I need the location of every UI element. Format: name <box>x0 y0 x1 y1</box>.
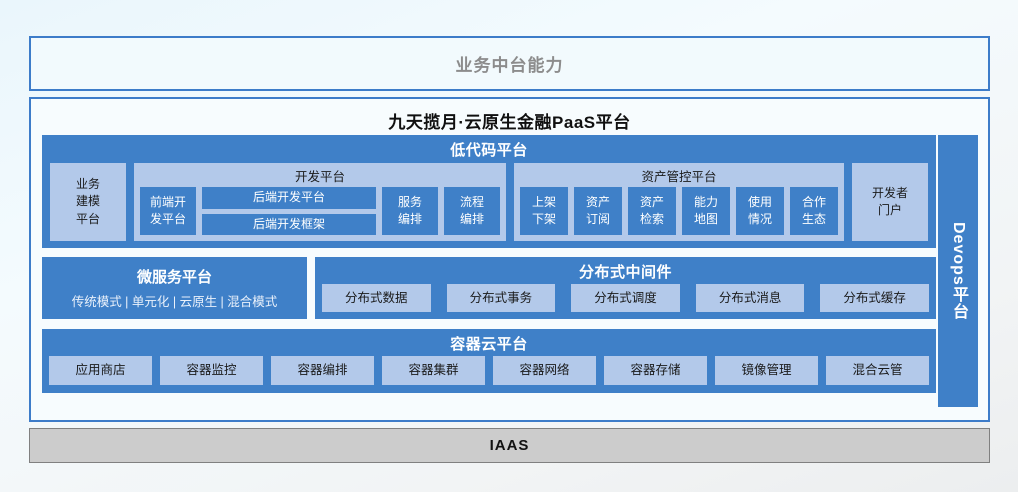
developer-portal-line-2: 门户 <box>878 202 902 219</box>
container-item-hybrid-cloud[interactable]: 混合云管 <box>826 356 929 385</box>
middleware-item-cache[interactable]: 分布式缓存 <box>820 284 929 312</box>
middleware-item-message[interactable]: 分布式消息 <box>696 284 805 312</box>
asset-item-search-line-2: 检索 <box>640 211 664 228</box>
asset-item-search-line-1: 资产 <box>640 194 664 211</box>
container-item-cluster[interactable]: 容器集群 <box>382 356 485 385</box>
container-item-network[interactable]: 容器网络 <box>493 356 596 385</box>
asset-item-ecosystem[interactable]: 合作 生态 <box>790 187 838 235</box>
process-orchestration-tile[interactable]: 流程 编排 <box>444 187 500 235</box>
development-platform-title: 开发平台 <box>134 163 506 187</box>
microservice-platform-panel: 微服务平台 传统模式 | 单元化 | 云原生 | 混合模式 <box>42 257 307 319</box>
frontend-dev-line-1: 前端开 <box>150 194 186 211</box>
business-middle-platform-banner: 业务中台能力 <box>29 36 990 91</box>
frontend-dev-line-2: 发平台 <box>150 211 186 228</box>
asset-item-subscribe-line-1: 资产 <box>586 194 610 211</box>
distributed-middleware-title: 分布式中间件 <box>315 257 936 282</box>
container-cloud-platform-panel: 容器云平台 应用商店 容器监控 容器编排 容器集群 容器网络 容器存储 镜像管理… <box>42 329 936 393</box>
middleware-item-data[interactable]: 分布式数据 <box>322 284 431 312</box>
container-item-image-management[interactable]: 镜像管理 <box>715 356 818 385</box>
paas-platform-frame: 九天揽月·云原生金融PaaS平台 Devops平台 低代码平台 业务 建模 平台… <box>29 97 990 422</box>
process-orch-line-1: 流程 <box>460 194 484 211</box>
distributed-middleware-panel: 分布式中间件 分布式数据 分布式事务 分布式调度 分布式消息 分布式缓存 <box>315 257 936 319</box>
asset-item-usage-line-1: 使用 <box>748 194 772 211</box>
developer-portal-line-1: 开发者 <box>872 185 908 202</box>
asset-item-subscribe[interactable]: 资产 订阅 <box>574 187 622 235</box>
architecture-diagram: 业务中台能力 九天揽月·云原生金融PaaS平台 Devops平台 低代码平台 业… <box>0 0 1018 492</box>
container-cloud-platform-title: 容器云平台 <box>42 329 936 354</box>
business-modeling-line-1: 业务 <box>76 176 100 193</box>
container-item-orchestration[interactable]: 容器编排 <box>271 356 374 385</box>
devops-platform-label: Devops平台 <box>946 222 970 320</box>
container-item-monitoring[interactable]: 容器监控 <box>160 356 263 385</box>
development-platform-group: 开发平台 前端开 发平台 后端开发平台 后端开发框架 服务 编排 <box>134 163 506 241</box>
middleware-item-scheduling[interactable]: 分布式调度 <box>571 284 680 312</box>
container-item-storage[interactable]: 容器存储 <box>604 356 707 385</box>
asset-item-search[interactable]: 资产 检索 <box>628 187 676 235</box>
business-modeling-line-3: 平台 <box>76 211 100 228</box>
iaas-label: IAAS <box>490 437 530 454</box>
paas-title: 九天揽月·云原生金融PaaS平台 <box>31 99 988 133</box>
service-orch-line-1: 服务 <box>398 194 422 211</box>
asset-item-shelf-line-2: 下架 <box>532 211 556 228</box>
asset-item-capability-map[interactable]: 能力 地图 <box>682 187 730 235</box>
microservice-platform-title: 微服务平台 <box>137 266 212 287</box>
asset-item-shelf[interactable]: 上架 下架 <box>520 187 568 235</box>
asset-management-platform-group: 资产管控平台 上架 下架 资产 订阅 资产 检索 <box>514 163 844 241</box>
asset-item-usage[interactable]: 使用 情况 <box>736 187 784 235</box>
microservice-platform-modes: 传统模式 | 单元化 | 云原生 | 混合模式 <box>72 291 278 310</box>
backend-dev-stack: 后端开发平台 后端开发框架 <box>202 187 376 235</box>
devops-platform-bar: Devops平台 <box>938 135 978 407</box>
frontend-dev-platform-tile[interactable]: 前端开 发平台 <box>140 187 196 235</box>
business-modeling-line-2: 建模 <box>76 193 100 210</box>
asset-item-capability-map-line-2: 地图 <box>694 211 718 228</box>
banner-title: 业务中台能力 <box>456 51 564 76</box>
middleware-item-transaction[interactable]: 分布式事务 <box>447 284 556 312</box>
developer-portal-tile[interactable]: 开发者 门户 <box>852 163 928 241</box>
asset-item-capability-map-line-1: 能力 <box>694 194 718 211</box>
process-orch-line-2: 编排 <box>460 211 484 228</box>
backend-dev-framework-tile[interactable]: 后端开发框架 <box>202 214 376 236</box>
asset-item-shelf-line-1: 上架 <box>532 194 556 211</box>
lowcode-platform-panel: 低代码平台 业务 建模 平台 开发平台 前端开 发平台 <box>42 135 936 248</box>
asset-management-platform-title: 资产管控平台 <box>514 163 844 187</box>
asset-item-subscribe-line-2: 订阅 <box>586 211 610 228</box>
backend-dev-platform-tile[interactable]: 后端开发平台 <box>202 187 376 209</box>
lowcode-platform-title: 低代码平台 <box>42 135 936 160</box>
asset-item-ecosystem-line-1: 合作 <box>802 194 826 211</box>
container-item-app-store[interactable]: 应用商店 <box>49 356 152 385</box>
asset-item-ecosystem-line-2: 生态 <box>802 211 826 228</box>
iaas-layer: IAAS <box>29 428 990 463</box>
business-modeling-platform-tile[interactable]: 业务 建模 平台 <box>50 163 126 241</box>
service-orchestration-tile[interactable]: 服务 编排 <box>382 187 438 235</box>
asset-item-usage-line-2: 情况 <box>748 211 772 228</box>
service-orch-line-2: 编排 <box>398 211 422 228</box>
